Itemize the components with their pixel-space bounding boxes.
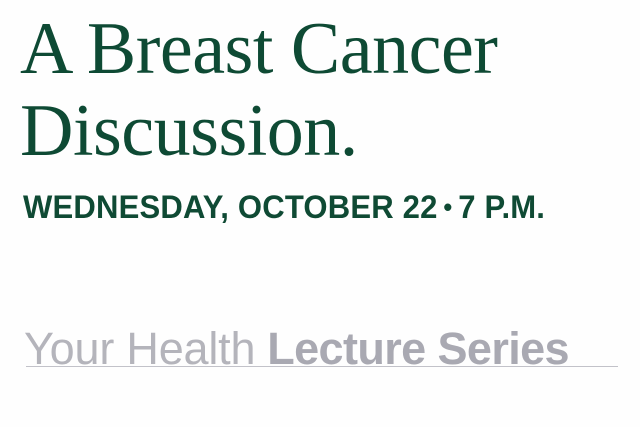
event-date: WEDNESDAY, OCTOBER 22 (23, 189, 438, 225)
event-dateline: WEDNESDAY, OCTOBER 22•7 P.M. (23, 190, 615, 224)
bullet-separator-icon: • (438, 190, 459, 224)
event-time: 7 P.M. (458, 189, 545, 225)
series-lockup: Your Health Lecture Series (24, 326, 618, 372)
series-underline-rule (26, 366, 618, 367)
event-poster: A Breast Cancer Discussion. WEDNESDAY, O… (0, 0, 640, 427)
page-title: A Breast Cancer Discussion. (20, 8, 620, 172)
